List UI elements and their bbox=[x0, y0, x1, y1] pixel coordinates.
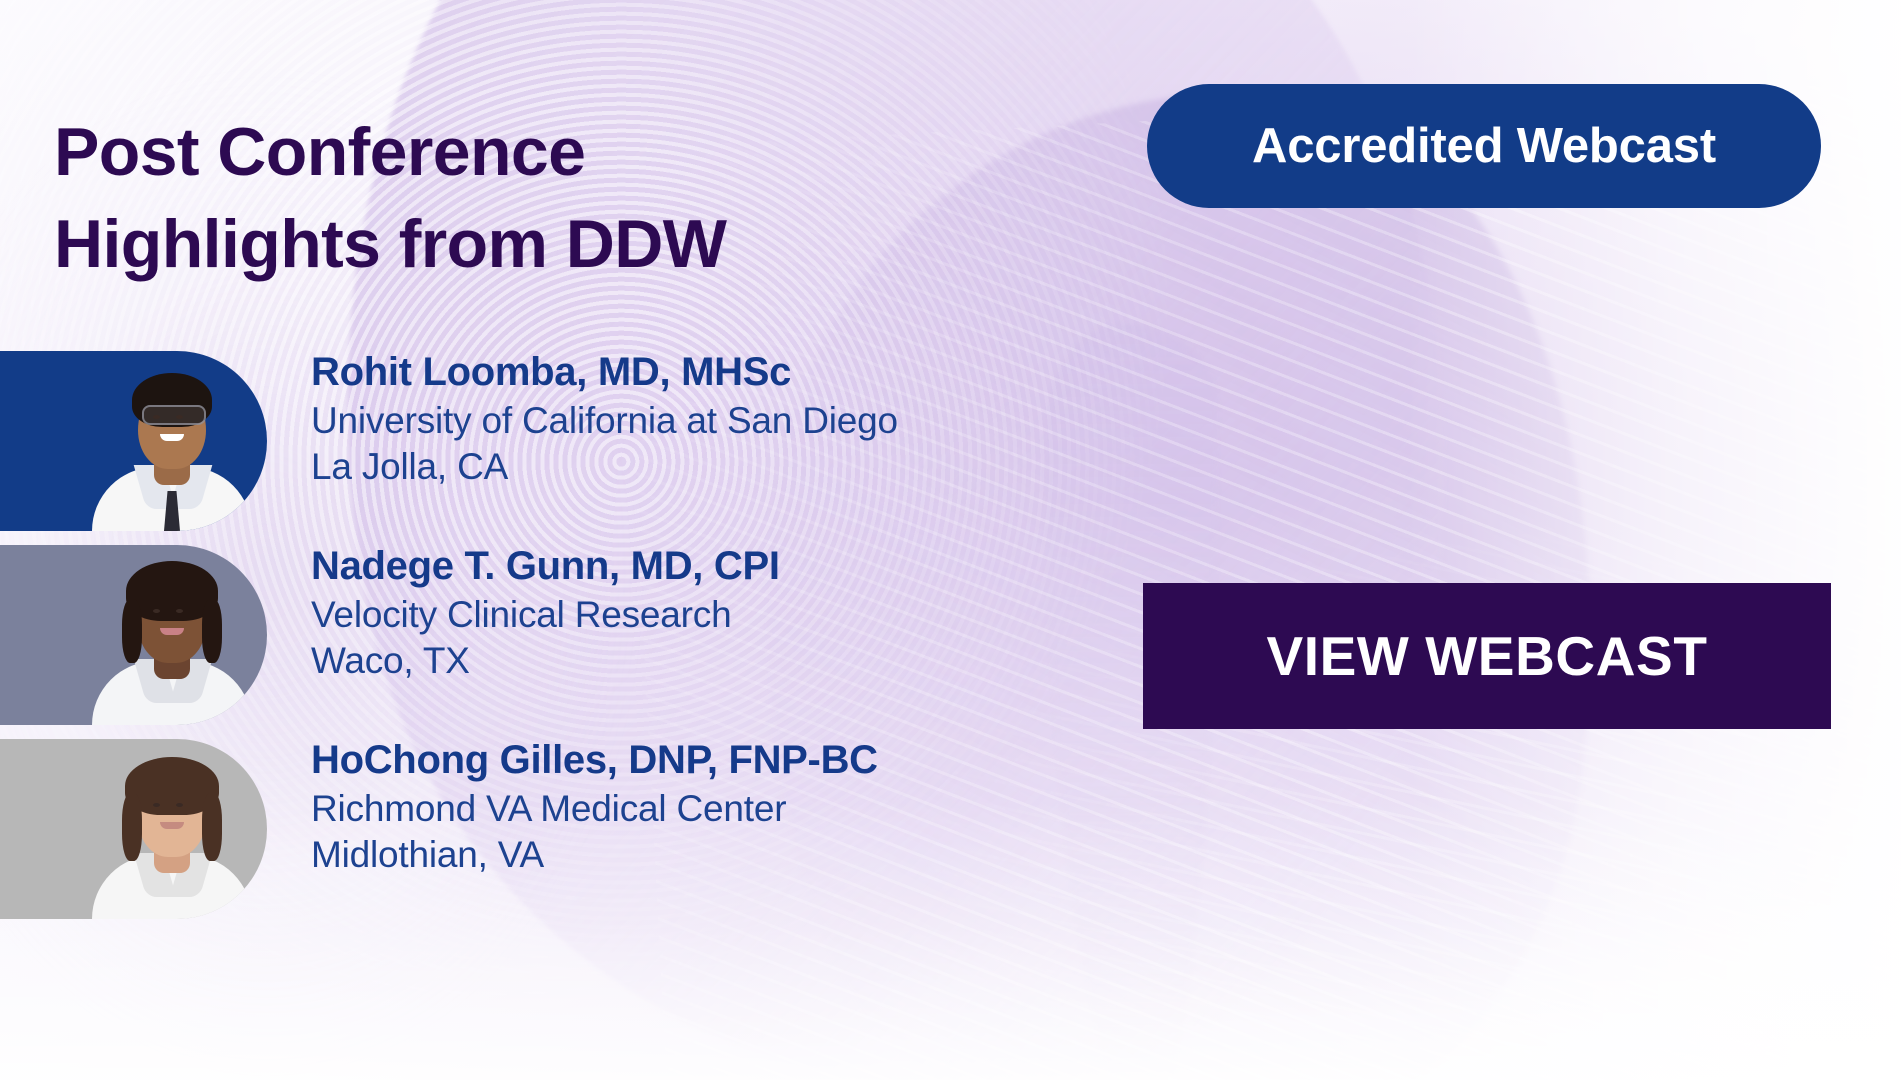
list-item: HoChong Gilles, DNP, FNP-BC Richmond VA … bbox=[0, 739, 1200, 933]
portrait-eye-right bbox=[176, 609, 183, 613]
portrait-hair-left bbox=[122, 599, 142, 663]
speaker-info: HoChong Gilles, DNP, FNP-BC Richmond VA … bbox=[311, 735, 878, 877]
speaker-list: Rohit Loomba, MD, MHSc University of Cal… bbox=[0, 351, 1200, 933]
speaker-portrait-2 bbox=[92, 553, 252, 725]
speaker-name: Nadege T. Gunn, MD, CPI bbox=[311, 541, 780, 592]
title-line-1: Post Conference bbox=[54, 106, 1084, 198]
avatar bbox=[0, 351, 267, 531]
portrait-smile bbox=[160, 822, 184, 829]
avatar bbox=[0, 739, 267, 919]
title-line-2: Highlights from DDW bbox=[54, 198, 1084, 290]
speaker-name: HoChong Gilles, DNP, FNP-BC bbox=[311, 735, 878, 786]
view-webcast-button[interactable]: VIEW WEBCAST bbox=[1143, 583, 1831, 729]
speaker-affiliation: Richmond VA Medical Center bbox=[311, 786, 878, 832]
portrait-eye-right bbox=[176, 803, 183, 807]
status-badge: Accredited Webcast bbox=[1147, 84, 1821, 208]
avatar bbox=[0, 545, 267, 725]
list-item: Nadege T. Gunn, MD, CPI Velocity Clinica… bbox=[0, 545, 1200, 739]
speaker-location: Waco, TX bbox=[311, 638, 780, 684]
speaker-name: Rohit Loomba, MD, MHSc bbox=[311, 347, 898, 398]
portrait-smile bbox=[160, 434, 184, 441]
portrait-eye-left bbox=[153, 609, 160, 613]
speaker-portrait-3 bbox=[92, 747, 252, 919]
portrait-hair-right bbox=[202, 793, 222, 861]
speaker-affiliation: Velocity Clinical Research bbox=[311, 592, 780, 638]
speaker-portrait-1 bbox=[92, 359, 252, 531]
speaker-info: Nadege T. Gunn, MD, CPI Velocity Clinica… bbox=[311, 541, 780, 683]
speaker-location: Midlothian, VA bbox=[311, 832, 878, 878]
speaker-location: La Jolla, CA bbox=[311, 444, 898, 490]
portrait-eye-left bbox=[153, 803, 160, 807]
promotional-banner: Post Conference Highlights from DDW Accr… bbox=[0, 0, 1901, 1080]
portrait-eye-left bbox=[153, 415, 160, 419]
view-webcast-label: VIEW WEBCAST bbox=[1266, 624, 1707, 688]
status-badge-label: Accredited Webcast bbox=[1252, 118, 1716, 174]
page-title: Post Conference Highlights from DDW bbox=[54, 106, 1084, 291]
portrait-hair-left bbox=[122, 793, 142, 861]
list-item: Rohit Loomba, MD, MHSc University of Cal… bbox=[0, 351, 1200, 545]
portrait-eye-right bbox=[176, 415, 183, 419]
portrait-smile bbox=[160, 628, 184, 635]
speaker-affiliation: University of California at San Diego bbox=[311, 398, 898, 444]
portrait-hair-right bbox=[202, 599, 222, 663]
speaker-info: Rohit Loomba, MD, MHSc University of Cal… bbox=[311, 347, 898, 489]
portrait-glasses bbox=[142, 405, 206, 425]
